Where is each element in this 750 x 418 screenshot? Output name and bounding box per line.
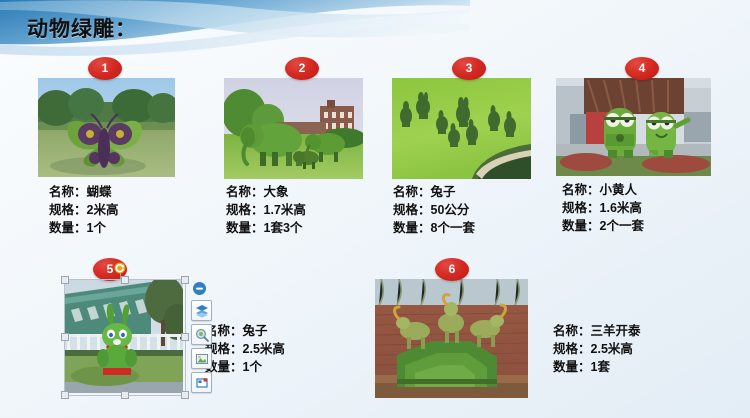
- resize-handle-sw[interactable]: [61, 391, 69, 399]
- item-badge-4[interactable]: 4: [625, 57, 659, 80]
- item-badge-1[interactable]: 1: [88, 57, 122, 80]
- item-photo-1[interactable]: [38, 78, 175, 177]
- name-value-1: 蝴蝶: [87, 185, 112, 199]
- item-caption-3: 名称：兔子 规格：50公分 数量：8个一套: [393, 183, 475, 237]
- name-value-4: 小黄人: [600, 183, 638, 197]
- item-caption-5: 名称：兔子 规格：2.5米高 数量：1个: [205, 322, 285, 376]
- collapse-minus-icon[interactable]: [191, 280, 208, 297]
- spec-value-4: 1.6米高: [600, 201, 642, 215]
- page-title: 动物绿雕：: [27, 13, 137, 43]
- name-key-1: 名称：: [49, 185, 87, 199]
- name-value-6: 三羊开泰: [591, 324, 641, 338]
- qty-value-2: 1套3个: [264, 221, 303, 235]
- item-badge-3[interactable]: 3: [452, 57, 486, 80]
- item-photo-6[interactable]: [375, 279, 528, 398]
- resize-handle-n[interactable]: [121, 276, 129, 284]
- item-caption-6: 名称：三羊开泰 规格：2.5米高 数量：1套: [553, 322, 641, 376]
- spec-key-3: 规格：: [393, 203, 431, 217]
- qty-key-1: 数量：: [49, 221, 87, 235]
- layout-options-icon[interactable]: [191, 372, 212, 393]
- item-caption-1: 名称：蝴蝶 规格：2米高 数量：1个: [49, 183, 118, 237]
- qty-key-2: 数量：: [226, 221, 264, 235]
- crop-image-icon[interactable]: [191, 348, 212, 369]
- name-key-6: 名称：: [553, 324, 591, 338]
- spec-value-1: 2米高: [87, 203, 119, 217]
- name-value-2: 大象: [264, 185, 289, 199]
- item-photo-5[interactable]: [65, 280, 183, 393]
- name-value-5: 兔子: [243, 324, 268, 338]
- name-key-3: 名称：: [393, 185, 431, 199]
- qty-value-4: 2个一套: [600, 219, 644, 233]
- spec-key-2: 规格：: [226, 203, 264, 217]
- resize-handle-e[interactable]: [181, 333, 189, 341]
- name-key-4: 名称：: [562, 183, 600, 197]
- spec-value-3: 50公分: [431, 203, 470, 217]
- qty-value-1: 1个: [87, 221, 106, 235]
- item-photo-2[interactable]: [224, 78, 363, 179]
- qty-value-5: 1个: [243, 360, 262, 374]
- resize-handle-w[interactable]: [61, 333, 69, 341]
- name-value-3: 兔子: [431, 185, 456, 199]
- resize-handle-nw[interactable]: [61, 276, 69, 284]
- item-photo-4[interactable]: [556, 78, 711, 176]
- rotate-handle-icon[interactable]: [114, 261, 126, 273]
- slide-canvas: 动物绿雕： 1: [0, 0, 750, 418]
- qty-key-6: 数量：: [553, 360, 591, 374]
- item-caption-4: 名称：小黄人 规格：1.6米高 数量：2个一套: [562, 181, 644, 235]
- qty-key-3: 数量：: [393, 221, 431, 235]
- spec-value-5: 2.5米高: [243, 342, 285, 356]
- item-photo-3[interactable]: [392, 78, 531, 179]
- qty-key-4: 数量：: [562, 219, 600, 233]
- resize-handle-ne[interactable]: [181, 276, 189, 284]
- spec-value-6: 2.5米高: [591, 342, 633, 356]
- item-badge-6[interactable]: 6: [435, 258, 469, 281]
- item-caption-2: 名称：大象 规格：1.7米高 数量：1套3个: [226, 183, 306, 237]
- image-float-toolbar[interactable]: [191, 280, 212, 393]
- spec-key-6: 规格：: [553, 342, 591, 356]
- spec-key-1: 规格：: [49, 203, 87, 217]
- resize-handle-s[interactable]: [121, 391, 129, 399]
- item-badge-2[interactable]: 2: [285, 57, 319, 80]
- spec-value-2: 1.7米高: [264, 203, 306, 217]
- spec-key-4: 规格：: [562, 201, 600, 215]
- zoom-search-icon[interactable]: [191, 324, 212, 345]
- qty-value-3: 8个一套: [431, 221, 475, 235]
- qty-value-6: 1套: [591, 360, 610, 374]
- layers-icon[interactable]: [191, 300, 212, 321]
- resize-handle-se[interactable]: [181, 391, 189, 399]
- name-key-2: 名称：: [226, 185, 264, 199]
